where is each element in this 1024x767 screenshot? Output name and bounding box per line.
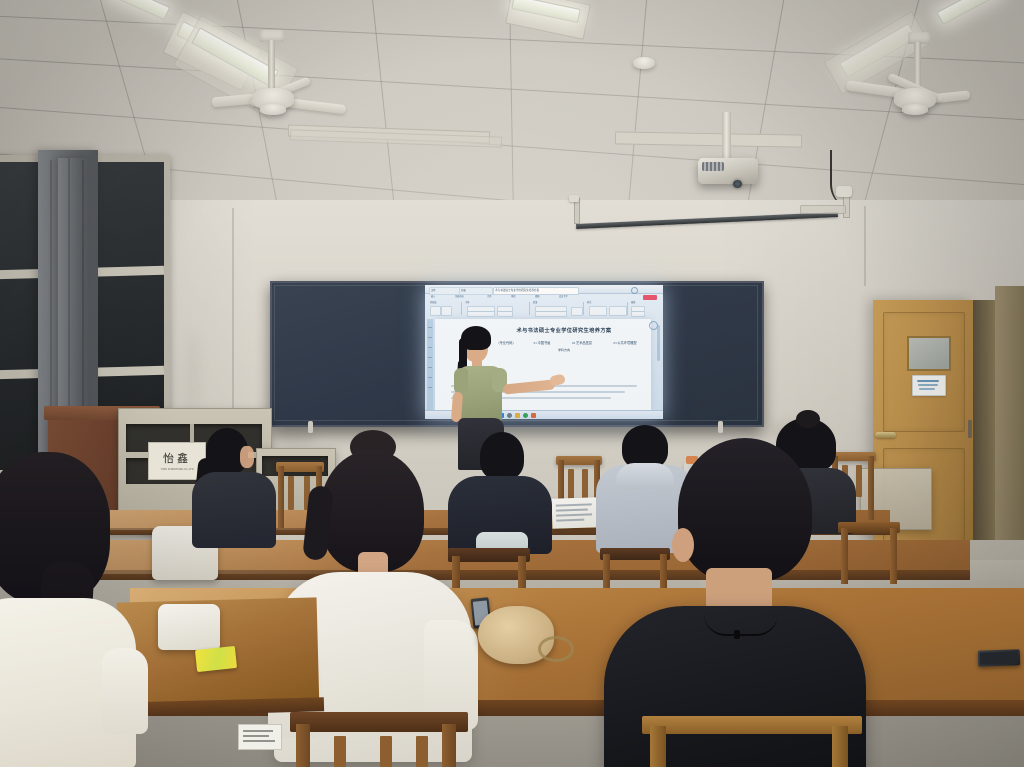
door-notice-sign [912,375,946,396]
ceiling-fan-right [790,28,940,120]
chair-front-right[interactable] [642,716,862,767]
snack-package [195,646,237,672]
ceiling-fan-left [218,30,358,118]
door-hinge-upper [968,420,972,438]
student2-top [192,472,276,548]
classroom-scene: 术与书法硕士专业学位研究生培养方案 文件 开始 插入 页面布局 引用 审阅 视图… [0,0,1024,767]
student-left-front [0,452,174,767]
presenter-hand [549,374,566,387]
door-window [907,336,951,371]
smartphone-right[interactable] [978,649,1021,666]
screen-tab-1[interactable]: 开始 [459,287,493,295]
smoke-detector [633,57,655,69]
screen-ribbon-tab-4[interactable]: 引用 [487,296,491,299]
chair-front-center[interactable] [290,712,468,767]
curtain-rail-end-right [836,186,852,197]
screen-left-ruler [427,319,433,411]
screen-tab-0[interactable]: 文件 [429,287,461,295]
curtain-rail-end-left [569,195,579,202]
presenter-pointing-arm [503,379,556,394]
wall-seam-right [864,206,866,286]
desk-label [238,724,282,750]
screen-ribbon-group-1: 字体 [465,302,469,305]
screen-ribbon-tab-7[interactable]: 会员专享 [559,296,568,299]
screen-ribbon-badge[interactable] [643,295,657,300]
screen-ribbon-group-3: 样式 [587,302,591,305]
screen-ribbon-group-4: 编辑 [631,302,635,305]
screen-ribbon-tab-6[interactable]: 视图 [535,296,539,299]
screen-window-title: 术与书法硕士专业学位研究生培养方案 [493,287,579,295]
screen-avatar-icon [631,287,638,294]
back-right-bun [796,410,820,428]
black-tee-ear [672,528,694,562]
screen-ribbon-tab-3[interactable]: 页面布局 [455,296,464,299]
fuzzy-bag-strap [538,636,574,662]
curtain-rail-bracket-mid [800,205,846,214]
screen-ribbon-group-0: 剪贴板 [430,302,437,305]
screen-doc-subtitle-3: 03 公共环境雕塑 [603,340,647,345]
projector-lens [733,180,742,188]
door-panel-upper [883,312,965,432]
left-front-sleeve [102,648,148,734]
screen-ribbon-tab-labels[interactable]: 插入 [431,296,435,299]
black-tee-necklace [704,614,778,636]
projector-vent [702,162,724,171]
projector-mount-pole [722,112,731,158]
screen-scrollbar[interactable] [657,325,660,361]
black-tee-pendant [734,630,740,639]
black-tee-hair [678,438,812,582]
white-bag-front [158,604,220,650]
screen-ribbon-group-2: 段落 [533,302,537,305]
screen-ribbon-tab-5[interactable]: 审阅 [511,296,515,299]
